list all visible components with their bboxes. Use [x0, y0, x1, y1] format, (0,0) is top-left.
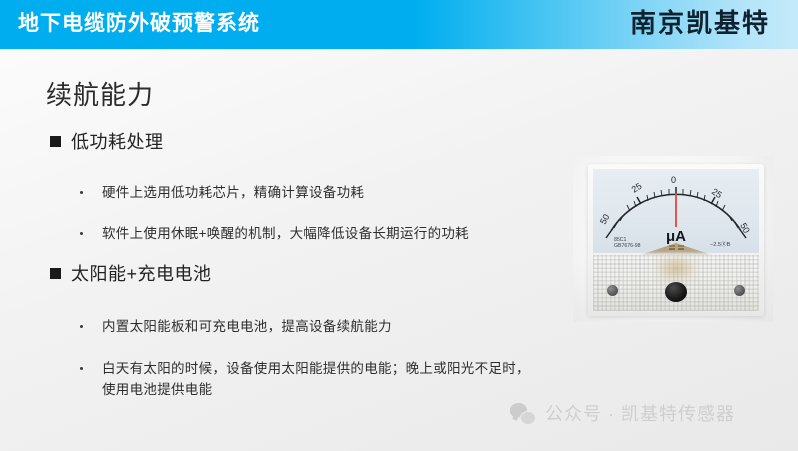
page-title: 续航能力: [46, 78, 154, 112]
list-item-label: 硬件上选用低功耗芯片，精确计算设备功耗: [102, 182, 364, 203]
meter-lower-panel: [593, 255, 759, 311]
list-item: 白天有太阳的时候，设备使用太阳能提供的电能；晚上或阳光不足时， 使用电池提供电能: [80, 358, 530, 400]
meter-scale-graphic: 50 25 0 25 50 μA: [593, 169, 759, 253]
square-bullet-icon: [50, 268, 61, 279]
wechat-watermark: 公众号 · 凯基特传感器: [510, 403, 735, 425]
wechat-icon: [510, 403, 536, 425]
svg-text:50: 50: [738, 221, 752, 235]
meter-zero-adjust-knob: [665, 282, 687, 302]
square-bullet-icon: [50, 136, 61, 147]
section-heading-solar-battery: 太阳能+充电电池: [50, 262, 212, 286]
slide-header-title: 地下电缆防外破预警系统: [18, 10, 260, 38]
wechat-watermark-label: 公众号 · 凯基特传感器: [545, 403, 735, 425]
section-heading-label: 太阳能+充电电池: [71, 262, 212, 286]
svg-text:25: 25: [710, 186, 724, 200]
list-item-label: 内置太阳能板和可充电电池，提高设备续航能力: [102, 316, 392, 337]
list-item: 内置太阳能板和可充电电池，提高设备续航能力: [80, 316, 392, 337]
meter-reflection: [653, 252, 699, 286]
list-item: 硬件上选用低功耗芯片，精确计算设备功耗: [80, 182, 364, 203]
dot-bullet-icon: [80, 191, 83, 194]
list-item-label: 白天有太阳的时候，设备使用太阳能提供的电能；晚上或阳光不足时， 使用电池提供电能: [102, 358, 530, 400]
analog-meter-photo: 50 25 0 25 50 μA: [573, 156, 773, 322]
slide-canvas: 地下电缆防外破预警系统 南京凯基特 续航能力 低功耗处理 硬件上选用低功耗芯片，…: [0, 0, 798, 451]
list-item: 软件上使用休眠+唤醒的机制，大幅降低设备长期运行的功耗: [80, 223, 469, 244]
svg-text:GB7676-98: GB7676-98: [614, 243, 641, 249]
meter-dial-face: 50 25 0 25 50 μA: [593, 169, 759, 253]
svg-text:50: 50: [598, 212, 612, 226]
company-brand-logo: 南京凯基特: [630, 8, 770, 40]
svg-text:0: 0: [671, 175, 676, 185]
meter-screw-left: [607, 285, 618, 296]
list-item-label: 软件上使用休眠+唤醒的机制，大幅降低设备长期运行的功耗: [102, 223, 469, 244]
dot-bullet-icon: [80, 367, 83, 370]
svg-text:μA: μA: [666, 228, 686, 245]
meter-housing: 50 25 0 25 50 μA: [588, 164, 764, 316]
svg-text:−2.5ⓍB: −2.5ⓍB: [710, 240, 731, 248]
slide-header-band: 地下电缆防外破预警系统 南京凯基特: [0, 0, 798, 49]
meter-screw-right: [734, 285, 745, 296]
dot-bullet-icon: [80, 325, 83, 328]
section-heading-low-power: 低功耗处理: [50, 130, 164, 154]
dot-bullet-icon: [80, 232, 83, 235]
svg-text:25: 25: [630, 181, 644, 195]
section-heading-label: 低功耗处理: [71, 130, 164, 154]
